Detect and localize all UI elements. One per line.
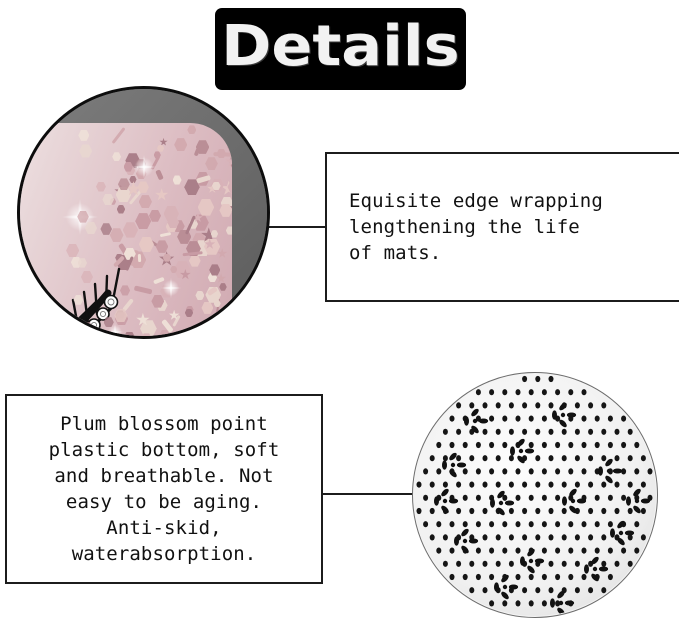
backing-dot <box>588 455 593 461</box>
backing-dot <box>549 402 554 408</box>
backing-dot <box>568 389 573 395</box>
backing-dot <box>595 416 600 422</box>
backing-dot <box>496 482 501 488</box>
backing-dot <box>489 574 494 580</box>
sequin <box>79 144 92 157</box>
backing-dot <box>575 429 580 435</box>
backing-dot <box>430 455 435 461</box>
backing-dot <box>483 455 488 461</box>
backing-dot <box>516 521 521 527</box>
backing-dot <box>443 534 448 540</box>
backing-dot <box>575 587 580 593</box>
backing-dot <box>483 587 488 593</box>
backing-dot <box>522 587 527 593</box>
backing-dot <box>516 495 521 501</box>
sequin <box>153 277 165 284</box>
backing-dot <box>469 587 474 593</box>
backing-dot <box>516 574 521 580</box>
backing-dot <box>549 482 554 488</box>
backing-dot <box>450 548 455 554</box>
sequin <box>217 149 227 159</box>
backing-dot <box>417 508 422 514</box>
backing-dot <box>496 429 501 435</box>
sequin <box>174 138 187 151</box>
backing-dot <box>634 548 639 554</box>
backing-dot <box>628 455 633 461</box>
backing-dot <box>529 468 534 474</box>
sequin <box>227 338 232 339</box>
backing-dot <box>588 508 593 514</box>
backing-dot <box>575 455 580 461</box>
backing-dot <box>509 482 514 488</box>
backing-dot <box>542 521 547 527</box>
backing-dot <box>529 574 534 580</box>
sequin <box>160 232 171 237</box>
backing-dot <box>621 548 626 554</box>
backing-dot <box>516 468 521 474</box>
backing-dot <box>529 389 534 395</box>
backing-dot <box>489 600 494 606</box>
sequin <box>225 155 232 168</box>
backing-dot <box>582 521 587 527</box>
backing-dot <box>450 442 455 448</box>
backing-dot <box>529 521 534 527</box>
backing-dot <box>430 534 435 540</box>
backing-dot <box>436 468 441 474</box>
backing-dot <box>549 534 554 540</box>
backing-dot <box>522 482 527 488</box>
sequin <box>129 176 136 183</box>
backing-dot <box>469 482 474 488</box>
backing-dot <box>535 455 540 461</box>
backing-dot <box>469 508 474 514</box>
backing-dot <box>608 495 613 501</box>
backing-dot <box>483 402 488 408</box>
sequin <box>100 223 112 235</box>
sequin <box>77 211 89 223</box>
backing-dot <box>608 574 613 580</box>
backing-dot <box>502 416 507 422</box>
backing-dot <box>489 416 494 422</box>
backing-dot <box>483 561 488 567</box>
backing-dot <box>443 455 448 461</box>
backing-dot <box>436 521 441 527</box>
backing-dot <box>502 548 507 554</box>
backing-dot <box>483 534 488 540</box>
backing-dot <box>641 508 646 514</box>
backing-dot <box>628 482 633 488</box>
backing-dot <box>509 534 514 540</box>
sequin <box>219 283 227 291</box>
callout-plastic-bottom: Plum blossom point plastic bottom, soft … <box>5 394 323 584</box>
backing-dot <box>582 442 587 448</box>
backing-dot <box>529 495 534 501</box>
backing-dot <box>489 442 494 448</box>
backing-dot <box>621 495 626 501</box>
backing-dot <box>595 495 600 501</box>
backing-dot <box>496 455 501 461</box>
backing-dot <box>555 468 560 474</box>
backing-dot <box>522 534 527 540</box>
backing-dot <box>549 561 554 567</box>
backing-dot <box>555 521 560 527</box>
backing-dot <box>430 508 435 514</box>
backing-dot <box>562 429 567 435</box>
backing-dot <box>582 416 587 422</box>
backing-dot <box>555 548 560 554</box>
product-detail-image: Details <box>0 0 679 618</box>
backing-dot <box>615 429 620 435</box>
backing-dot <box>509 561 514 567</box>
backing-dot <box>641 482 646 488</box>
backing-dot <box>568 548 573 554</box>
backing-dot <box>562 482 567 488</box>
backing-dot <box>641 534 646 540</box>
backing-dot <box>634 442 639 448</box>
backing-dot <box>509 455 514 461</box>
backing-dot <box>575 402 580 408</box>
backing-dot <box>456 429 461 435</box>
backing-dot <box>568 468 573 474</box>
backing-dot <box>549 455 554 461</box>
backing-dot <box>601 455 606 461</box>
backing-dot <box>509 429 514 435</box>
backing-dot <box>575 482 580 488</box>
backing-dot <box>608 442 613 448</box>
backing-dot <box>628 508 633 514</box>
backing-dot <box>601 402 606 408</box>
backing-dot <box>582 548 587 554</box>
backing-dot <box>423 495 428 501</box>
backing-dot <box>502 521 507 527</box>
backing-dot <box>621 442 626 448</box>
backing-dot <box>555 574 560 580</box>
backing-dot <box>608 416 613 422</box>
backing-dot <box>542 548 547 554</box>
backing-dot <box>621 416 626 422</box>
backing-dot <box>522 376 527 382</box>
backing-dot <box>456 508 461 514</box>
backing-dot <box>542 495 547 501</box>
backing-dot <box>456 482 461 488</box>
sequin <box>139 195 152 208</box>
sequin <box>155 188 169 202</box>
backing-dot <box>529 600 534 606</box>
backing-dot <box>588 534 593 540</box>
callout-plastic-bottom-text: Plum blossom point plastic bottom, soft … <box>7 411 321 567</box>
backing-dot <box>423 468 428 474</box>
backing-dot <box>463 495 468 501</box>
sequin <box>187 125 196 134</box>
backing-dot <box>463 468 468 474</box>
backing-dot <box>562 508 567 514</box>
backing-dot <box>542 389 547 395</box>
backing-dot <box>489 548 494 554</box>
backing-dot <box>588 429 593 435</box>
backing-dot <box>549 587 554 593</box>
backing-dot <box>542 600 547 606</box>
backing-dot <box>601 534 606 540</box>
backing-dot <box>588 482 593 488</box>
details-title-text: Details <box>221 19 459 79</box>
backing-dot <box>549 429 554 435</box>
backing-dot <box>450 574 455 580</box>
backing-dot <box>542 442 547 448</box>
backing-dot <box>502 600 507 606</box>
backing-dot <box>450 416 455 422</box>
sequin <box>227 141 232 154</box>
backing-dot <box>476 389 481 395</box>
backing-dot <box>595 521 600 527</box>
backing-dot <box>575 534 580 540</box>
backing-dot <box>529 442 534 448</box>
backing-dot <box>568 574 573 580</box>
backing-dot <box>516 600 521 606</box>
sequin <box>136 168 147 179</box>
backing-dot <box>535 587 540 593</box>
backing-dot <box>601 508 606 514</box>
backing-dot <box>555 442 560 448</box>
sequin <box>135 213 151 229</box>
backing-dot <box>608 548 613 554</box>
backing-dot <box>476 521 481 527</box>
backing-dot <box>615 561 620 567</box>
backing-dot <box>595 442 600 448</box>
backing-dot <box>476 574 481 580</box>
photo-mat-edge-closeup <box>17 86 270 339</box>
backing-dot <box>582 468 587 474</box>
backing-dot <box>568 521 573 527</box>
backing-dot <box>463 574 468 580</box>
backing-dot <box>601 482 606 488</box>
backing-dot <box>463 521 468 527</box>
sequin <box>173 175 182 184</box>
backing-dot <box>648 468 653 474</box>
backing-dot <box>542 416 547 422</box>
backing-dot <box>483 429 488 435</box>
backing-dot <box>542 468 547 474</box>
sequin <box>211 230 218 237</box>
sequin <box>78 130 89 141</box>
backing-dot <box>601 561 606 567</box>
backing-dot <box>582 574 587 580</box>
backing-dot <box>555 495 560 501</box>
backing-dot <box>542 574 547 580</box>
backing-dot <box>476 495 481 501</box>
backing-dot <box>568 442 573 448</box>
backing-dot <box>443 561 448 567</box>
backing-dot <box>489 468 494 474</box>
backing-dot <box>456 561 461 567</box>
backing-dot <box>529 416 534 422</box>
backing-dot <box>489 521 494 527</box>
backing-dot <box>436 442 441 448</box>
backing-dot <box>562 534 567 540</box>
callout-edge-wrapping-text: Equisite edge wrapping lengthening the l… <box>327 188 603 266</box>
sequin <box>201 302 213 314</box>
sequin <box>117 205 126 214</box>
backing-dot <box>463 442 468 448</box>
photo-mat-backing-closeup <box>412 372 658 618</box>
backing-dot <box>535 534 540 540</box>
backing-dot <box>522 508 527 514</box>
sequin <box>155 170 163 181</box>
backing-dot <box>469 455 474 461</box>
backing-dot <box>489 389 494 395</box>
backing-dot <box>641 455 646 461</box>
sequin <box>189 255 201 267</box>
backing-dot <box>469 402 474 408</box>
sequin <box>123 222 138 237</box>
backing-dot <box>522 402 527 408</box>
backing-dot <box>628 561 633 567</box>
backing-dot <box>595 548 600 554</box>
backing-dot <box>502 442 507 448</box>
plum-blossom-dot-pattern <box>413 373 657 617</box>
backing-dot <box>615 508 620 514</box>
backing-dot <box>628 429 633 435</box>
backing-dot <box>436 548 441 554</box>
backing-dot <box>608 521 613 527</box>
backing-dot <box>601 429 606 435</box>
backing-dot <box>476 548 481 554</box>
backing-dot <box>469 561 474 567</box>
sequin <box>96 182 106 192</box>
backing-dot <box>516 389 521 395</box>
sequin <box>85 222 97 234</box>
backing-dot <box>588 587 593 593</box>
backing-dot <box>535 482 540 488</box>
sequin <box>156 240 169 253</box>
backing-dot <box>562 561 567 567</box>
backing-dot <box>562 455 567 461</box>
sequin <box>81 338 88 339</box>
backing-dot <box>509 508 514 514</box>
sequin <box>230 320 232 330</box>
backing-dot <box>555 389 560 395</box>
callout-edge-wrapping: Equisite edge wrapping lengthening the l… <box>325 152 679 302</box>
backing-dot <box>535 376 540 382</box>
backing-dot <box>496 402 501 408</box>
backing-dot <box>417 482 422 488</box>
backing-dot <box>423 521 428 527</box>
backing-dot <box>456 455 461 461</box>
backing-dot <box>522 429 527 435</box>
backing-dot <box>502 389 507 395</box>
backing-dot <box>476 468 481 474</box>
backing-dot <box>496 561 501 567</box>
backing-dot <box>516 548 521 554</box>
backing-dot <box>634 521 639 527</box>
backing-dot <box>535 402 540 408</box>
backing-dot <box>456 402 461 408</box>
sequin <box>154 151 161 158</box>
sequin <box>205 157 218 170</box>
mat-surface <box>17 123 232 339</box>
sequin <box>198 199 215 216</box>
backing-dot <box>615 482 620 488</box>
backing-dot <box>509 402 514 408</box>
backing-dot <box>549 508 554 514</box>
backing-dot <box>516 416 521 422</box>
backing-dot <box>476 442 481 448</box>
backing-dot <box>483 482 488 488</box>
backing-dot <box>575 561 580 567</box>
backing-dot <box>634 468 639 474</box>
sequin <box>149 210 161 222</box>
backing-dot <box>535 429 540 435</box>
backing-dot <box>430 482 435 488</box>
sequin <box>157 145 164 152</box>
backing-dot <box>582 389 587 395</box>
backing-dot <box>443 482 448 488</box>
backing-dot <box>535 508 540 514</box>
backing-dot <box>549 376 554 382</box>
sequin <box>111 127 125 144</box>
backing-dot <box>502 468 507 474</box>
backing-dot <box>588 402 593 408</box>
sequin <box>160 285 173 298</box>
details-title-banner: Details <box>215 8 466 90</box>
backing-dot <box>601 587 606 593</box>
backing-dot <box>496 534 501 540</box>
sequin <box>195 291 204 300</box>
backing-dot <box>443 429 448 435</box>
backing-dot <box>483 508 488 514</box>
backing-dot <box>450 521 455 527</box>
backing-dot <box>615 455 620 461</box>
sequin <box>226 226 232 234</box>
sequin <box>66 244 79 257</box>
